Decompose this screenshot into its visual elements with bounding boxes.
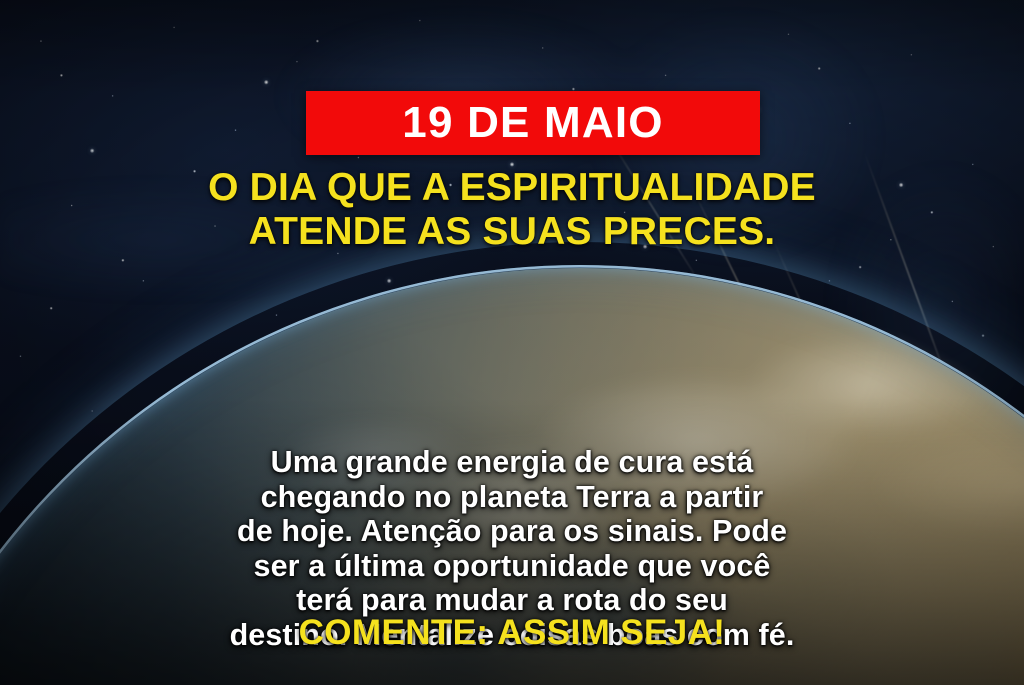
headline: O DIA QUE A ESPIRITUALIDADE ATENDE AS SU… bbox=[0, 166, 1024, 255]
date-banner: 19 DE MAIO bbox=[306, 91, 760, 155]
body-line-4: ser a última oportunidade que você bbox=[28, 549, 996, 584]
headline-line-1: O DIA QUE A ESPIRITUALIDADE bbox=[40, 166, 984, 210]
call-to-action-label: COMENTE: ASSIM SEJA! bbox=[0, 614, 1024, 653]
poster-content: 19 DE MAIO O DIA QUE A ESPIRITUALIDADE A… bbox=[0, 0, 1024, 685]
poster-canvas: 19 DE MAIO O DIA QUE A ESPIRITUALIDADE A… bbox=[0, 0, 1024, 685]
headline-line-2: ATENDE AS SUAS PRECES. bbox=[40, 210, 984, 254]
body-line-3: de hoje. Atenção para os sinais. Pode bbox=[28, 514, 996, 549]
body-line-2: chegando no planeta Terra a partir bbox=[28, 480, 996, 515]
body-line-1: Uma grande energia de cura está bbox=[28, 445, 996, 480]
date-banner-label: 19 DE MAIO bbox=[402, 101, 663, 145]
